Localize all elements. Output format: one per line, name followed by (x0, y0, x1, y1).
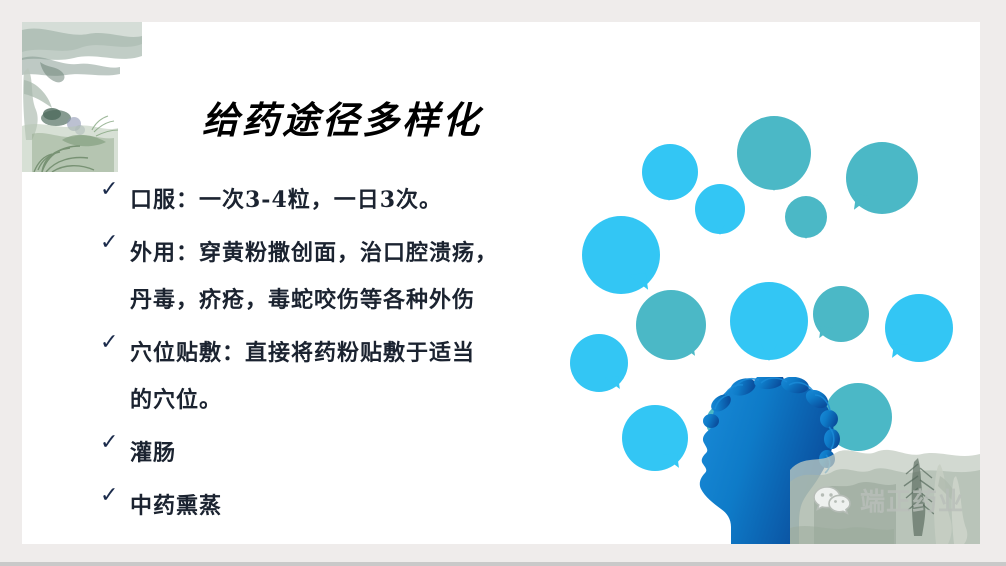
ink-wash-landscape-tree-decoration (22, 22, 142, 172)
checkmark-icon: ✓ (100, 230, 130, 254)
speech-bubble (582, 216, 660, 294)
list-item-text: 口服：一次3-4粒，一日3次。 (130, 177, 570, 224)
speech-bubble-tail (629, 273, 648, 292)
checkmark-icon: ✓ (100, 177, 130, 201)
speech-bubble-tail (678, 341, 695, 358)
speech-bubble-tail (715, 224, 725, 235)
slide-viewer: 给药途径多样化 ✓ 口服：一次3-4粒，一日3次。 ✓ 外用：穿黄粉撒创面，治口… (0, 0, 1006, 566)
head-silhouette-icon (677, 377, 867, 544)
speech-bubble-tail (854, 194, 872, 212)
slide-canvas: 给药途径多样化 ✓ 口服：一次3-4粒，一日3次。 ✓ 外用：穿黄粉撒创面，治口… (22, 22, 980, 544)
speech-bubble (885, 294, 953, 362)
bullet-list: ✓ 口服：一次3-4粒，一日3次。 ✓ 外用：穿黄粉撒创面，治口腔溃疡， 丹毒，… (100, 177, 570, 530)
speech-bubble (846, 142, 918, 214)
speech-bubble (570, 334, 628, 392)
page-title: 给药途径多样化 (162, 90, 522, 144)
list-item: ✓ 口服：一次3-4粒，一日3次。 (100, 177, 570, 224)
watermark-text: 端正药业 (860, 482, 964, 518)
speech-bubble (737, 116, 811, 190)
speech-bubble-tail (664, 189, 674, 201)
list-item: ✓ 穴位贴敷：直接将药粉贴敷于适当 的穴位。 (100, 330, 570, 424)
checkmark-icon: ✓ (100, 430, 130, 454)
speech-bubble-tail (819, 327, 833, 341)
speech-bubble (730, 282, 808, 360)
list-item-text: 外用：穿黄粉撒创面，治口腔溃疡， 丹毒，疥疮，毒蛇咬伤等各种外伤 (130, 230, 570, 324)
list-item: ✓ 灌肠 (100, 430, 570, 477)
checkmark-icon: ✓ (100, 330, 130, 354)
list-item-text: 中药熏蒸 (130, 483, 570, 530)
speech-bubble-tail (802, 230, 810, 239)
watermark: 端正药业 (812, 482, 964, 518)
checkmark-icon: ✓ (100, 483, 130, 507)
speech-bubble-tail (761, 344, 777, 361)
speech-bubble (785, 196, 827, 238)
speech-bubble-tail (767, 175, 781, 191)
list-item-text: 穴位贴敷：直接将药粉贴敷于适当 的穴位。 (130, 330, 570, 424)
speech-bubble (636, 290, 706, 360)
viewer-bottom-divider (0, 562, 1006, 566)
speech-bubble-tail (605, 376, 620, 391)
list-item: ✓ 外用：穿黄粉撒创面，治口腔溃疡， 丹毒，疥疮，毒蛇咬伤等各种外伤 (100, 230, 570, 324)
speech-bubble (695, 184, 745, 234)
wechat-icon (812, 484, 852, 516)
list-item-text: 灌肠 (130, 430, 570, 477)
speech-bubble-tail (892, 343, 909, 360)
speech-bubble (642, 144, 698, 200)
speech-bubble (813, 286, 869, 342)
list-item: ✓ 中药熏蒸 (100, 483, 570, 530)
